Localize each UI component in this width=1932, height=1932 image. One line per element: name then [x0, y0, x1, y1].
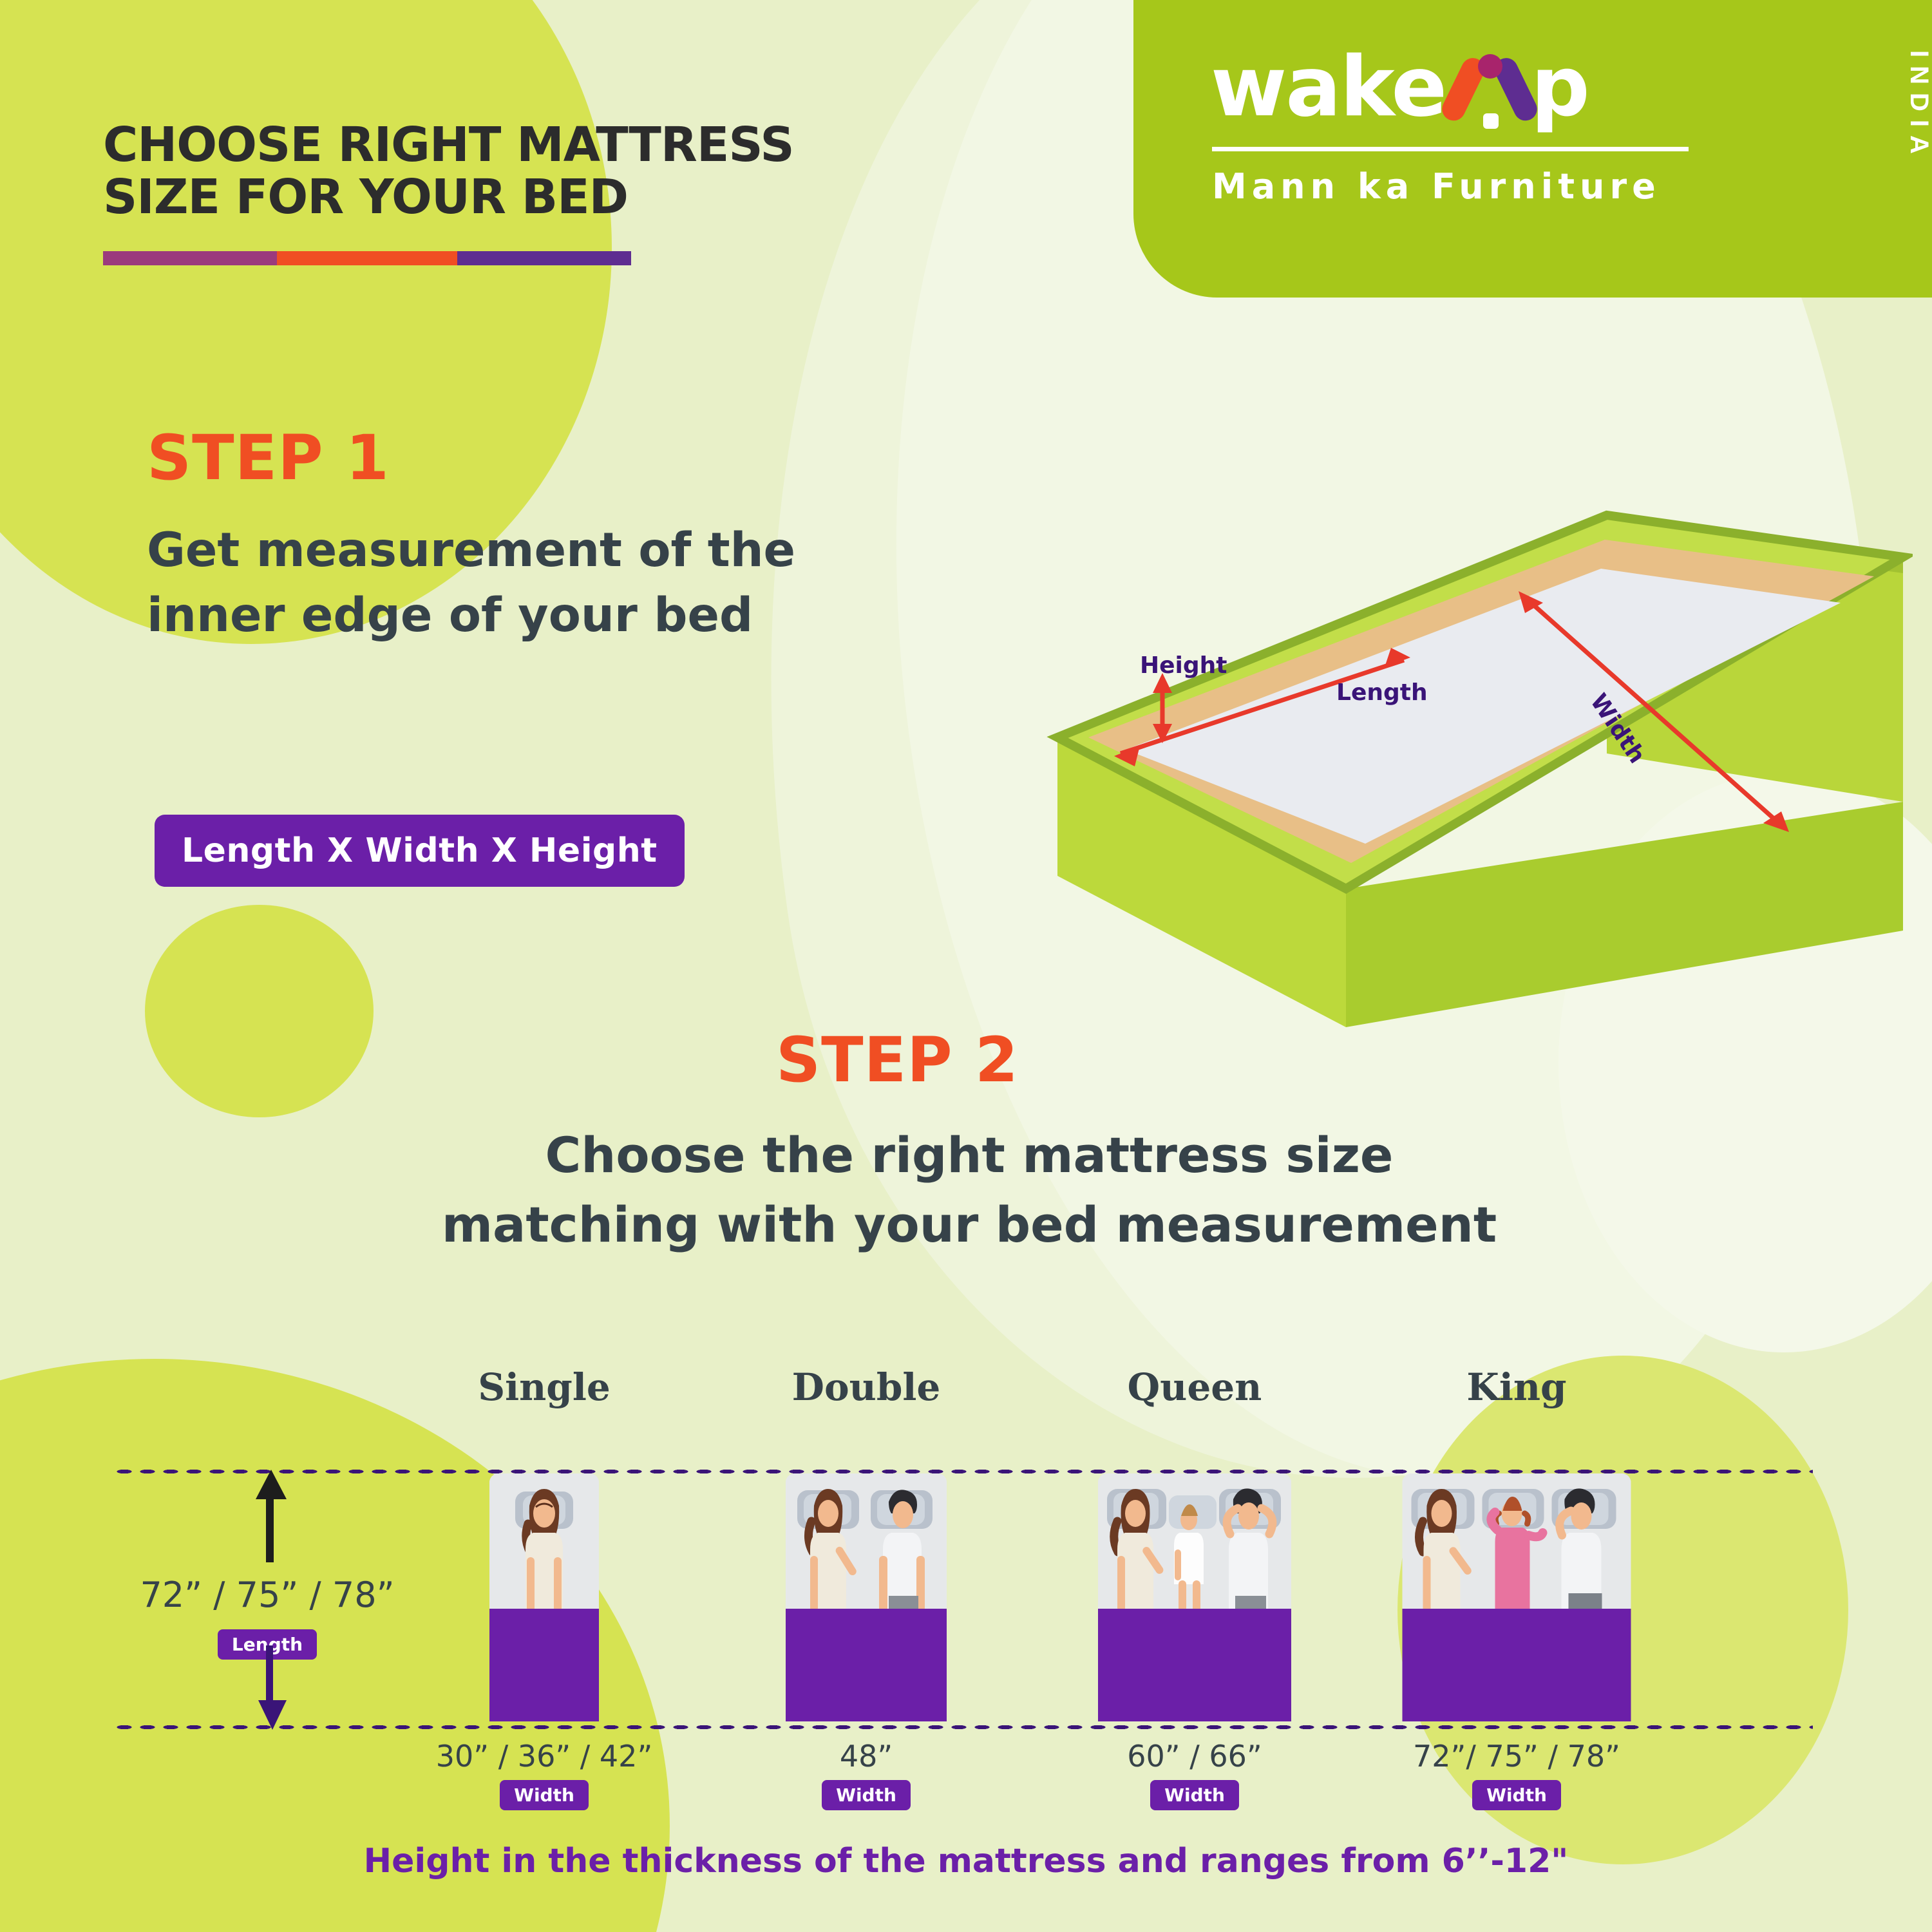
logo-divider-rule: [1212, 147, 1689, 151]
footer-note: Height in the thickness of the mattress …: [0, 1842, 1932, 1880]
size-column-single: Single: [406, 1365, 683, 1409]
brand-header-banner: wake p INDIA Mann ka Furniture: [1133, 0, 1932, 298]
background-circle-middle: [145, 905, 374, 1117]
width-badge-king: Width: [1472, 1780, 1561, 1810]
sleeper-illustration-queen: [1098, 1473, 1291, 1612]
step-1-line-2: inner edge of your bed: [147, 583, 1061, 649]
step-2-description: Choose the right mattress size matching …: [187, 1121, 1752, 1260]
size-title-double: Double: [728, 1365, 1005, 1409]
underline-segment-magenta: [103, 251, 277, 265]
size-width-value-king: 72”/ 75” / 78”: [1378, 1739, 1655, 1774]
step-2-label: STEP 2: [776, 1024, 1019, 1096]
brand-logo[interactable]: wake p: [1211, 46, 1803, 131]
mattress-size-chart: 72” / 75” / 78” Length Single: [0, 1365, 1932, 1848]
arrow-down-stem: [266, 1645, 273, 1703]
size-column-double: Double: [728, 1365, 1005, 1409]
mattress-card-double: [786, 1473, 947, 1721]
bed-illustration: Height Length Width: [1043, 477, 1913, 1056]
sleeper-illustration-king: [1403, 1473, 1631, 1612]
page-title-line-1: CHOOSE RIGHT MATTRESS: [103, 119, 1005, 171]
bed-label-height: Height: [1140, 652, 1227, 679]
mattress-block-queen: [1098, 1609, 1291, 1721]
step-2-line-2: matching with your bed measurement: [187, 1190, 1752, 1260]
logo-word-p: p: [1531, 46, 1589, 129]
sleeper-illustration-single: [489, 1473, 599, 1612]
step-2-line-1: Choose the right mattress size: [187, 1121, 1752, 1190]
length-value: 72” / 75” / 78”: [113, 1575, 422, 1615]
step-1-description: Get measurement of the inner edge of you…: [147, 518, 1061, 648]
size-title-single: Single: [406, 1365, 683, 1409]
underline-segment-violet: [457, 251, 631, 265]
step-1-label: STEP 1: [147, 422, 390, 494]
width-badge-single: Width: [500, 1780, 589, 1810]
mattress-card-single: [489, 1473, 599, 1721]
length-axis: 72” / 75” / 78” Length: [113, 1462, 422, 1732]
size-width-king: 72”/ 75” / 78” Width: [1378, 1739, 1655, 1810]
width-badge-double: Width: [822, 1780, 911, 1810]
mattress-card-king: [1403, 1473, 1631, 1721]
logo-wordmark-row: wake p: [1211, 46, 1803, 131]
size-column-king: King: [1378, 1365, 1655, 1409]
size-title-queen: Queen: [1056, 1365, 1333, 1409]
logo-tagline: Mann ka Furniture: [1212, 166, 1661, 207]
title-underline-bar: [103, 251, 631, 265]
page-title-line-2: SIZE FOR YOUR BED: [103, 171, 1005, 223]
logo-inner-dot: [1483, 113, 1499, 129]
sleeper-illustration-double: [786, 1473, 947, 1612]
mattress-card-queen: [1098, 1473, 1291, 1721]
size-width-single: 30” / 36” / 42” Width: [406, 1739, 683, 1810]
size-width-double: 48” Width: [728, 1739, 1005, 1810]
mattress-block-double: [786, 1609, 947, 1721]
step-1-line-1: Get measurement of the: [147, 518, 1061, 583]
mattress-block-king: [1403, 1609, 1631, 1721]
logo-region-label: INDIA: [1904, 50, 1932, 162]
logo-a-roof-icon: [1452, 54, 1529, 131]
formula-badge: Length X Width X Height: [155, 815, 685, 887]
page-title: CHOOSE RIGHT MATTRESS SIZE FOR YOUR BED: [103, 119, 1005, 224]
size-width-value-queen: 60” / 66”: [1056, 1739, 1333, 1774]
bed-label-length: Length: [1336, 679, 1428, 706]
infographic-canvas: wake p INDIA Mann ka Furniture CHOOSE RI…: [0, 0, 1932, 1932]
size-width-value-double: 48”: [728, 1739, 1005, 1774]
arrow-up-stem: [266, 1498, 274, 1562]
size-width-value-single: 30” / 36” / 42”: [406, 1739, 683, 1774]
arrow-up-icon: [256, 1470, 287, 1499]
logo-word-wake: wake: [1211, 46, 1446, 129]
arrow-down-icon: [258, 1700, 287, 1730]
mattress-block-single: [489, 1609, 599, 1721]
underline-segment-orange: [277, 251, 457, 265]
size-column-queen: Queen: [1056, 1365, 1333, 1409]
logo-apex-magenta: [1478, 54, 1502, 79]
size-width-queen: 60” / 66” Width: [1056, 1739, 1333, 1810]
size-title-king: King: [1378, 1365, 1655, 1409]
width-badge-queen: Width: [1150, 1780, 1239, 1810]
